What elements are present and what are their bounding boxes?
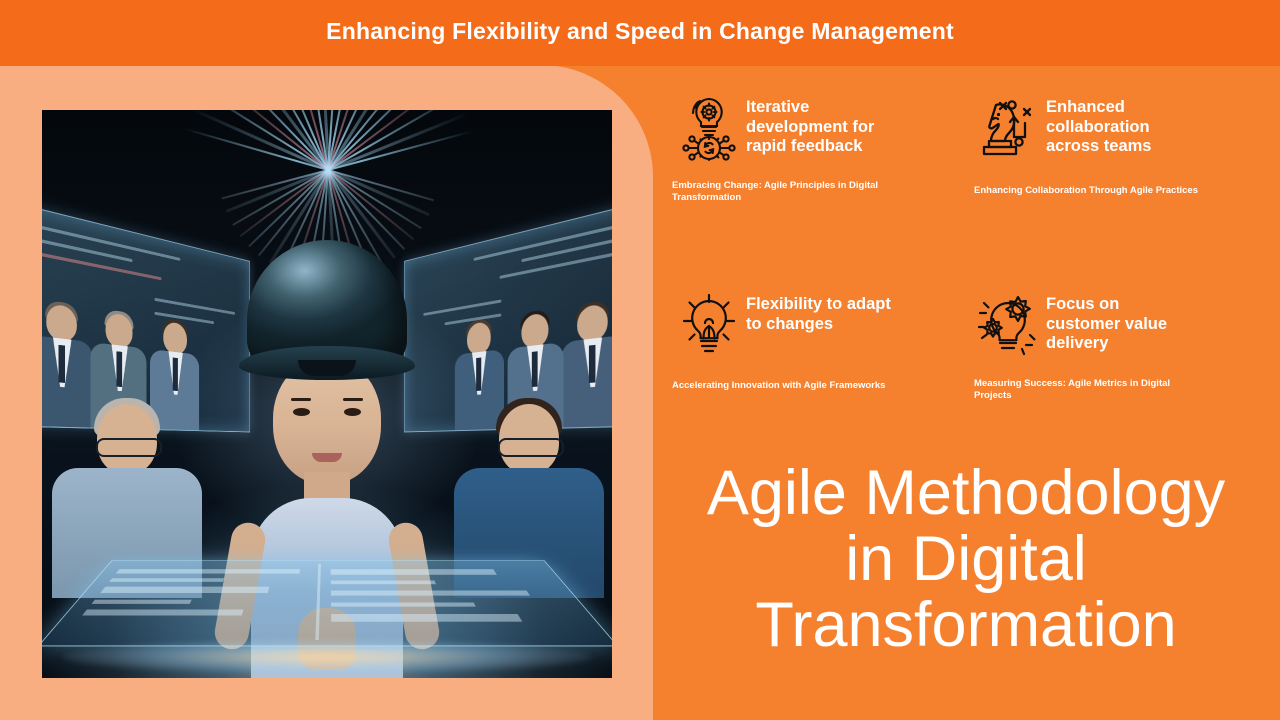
feature-grid: Iterative development for rapid feedback… [672, 92, 1272, 402]
headline-line-2: in Digital [662, 526, 1270, 592]
feature-title: Iterative development for rapid feedback [746, 92, 896, 157]
slide-root: Enhancing Flexibility and Speed in Chang… [0, 0, 1280, 720]
lightbulb-shining-icon [672, 289, 746, 363]
lightbulb-gear-network-icon [672, 92, 746, 166]
feature-caption: Embracing Change: Agile Principles in Di… [672, 180, 904, 204]
lightbulb-gears-icon [972, 289, 1046, 363]
main-headline: Agile Methodology in Digital Transformat… [662, 460, 1270, 658]
feature-customer-value[interactable]: Focus on customer value delivery Measuri… [972, 289, 1272, 402]
feature-caption: Enhancing Collaboration Through Agile Pr… [974, 185, 1206, 197]
feature-title: Focus on customer value delivery [1046, 289, 1188, 354]
feature-iterative-development[interactable]: Iterative development for rapid feedback… [672, 92, 972, 204]
holographic-table [42, 560, 612, 646]
feature-enhanced-collaboration[interactable]: Enhanced collaboration across teams Enha… [972, 92, 1272, 204]
chess-knight-strategy-icon [972, 92, 1046, 166]
feature-row-bottom: Flexibility to adapt to changes Accelera… [672, 289, 1272, 402]
header-band: Enhancing Flexibility and Speed in Chang… [0, 0, 1280, 66]
headline-line-1: Agile Methodology [662, 460, 1270, 526]
header-title: Enhancing Flexibility and Speed in Chang… [0, 16, 1280, 46]
feature-row-top: Iterative development for rapid feedback… [672, 92, 1272, 204]
hero-photo [42, 110, 612, 678]
feature-caption: Measuring Success: Agile Metrics in Digi… [974, 378, 1206, 402]
headline-line-3: Transformation [662, 592, 1270, 658]
feature-caption: Accelerating Innovation with Agile Frame… [672, 380, 932, 392]
feature-flexibility-adapt[interactable]: Flexibility to adapt to changes Accelera… [672, 289, 972, 402]
hero-photo-image [42, 110, 612, 678]
feature-title: Flexibility to adapt to changes [746, 289, 896, 334]
feature-title: Enhanced collaboration across teams [1046, 92, 1188, 157]
table-glow [62, 640, 592, 674]
